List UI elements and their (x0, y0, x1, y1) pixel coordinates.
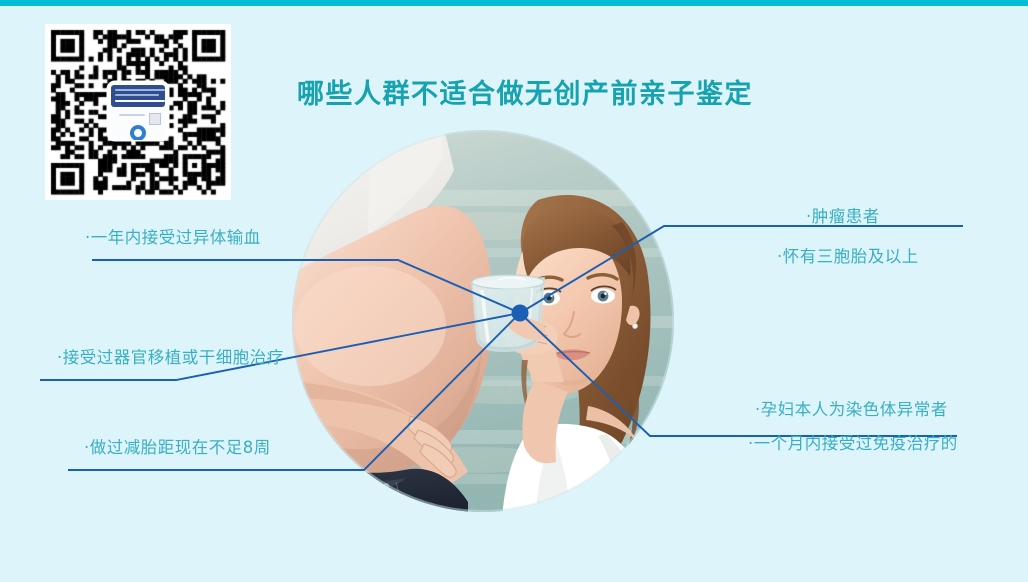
infographic-canvas: 哪些人群不适合做无创产前亲子鉴定 (0, 0, 1028, 582)
callout-label-right-2: ·怀有三胞胎及以上 (777, 243, 919, 267)
callout-label-left-3: ·做过减胎距现在不足8周 (84, 434, 271, 458)
logo-body (111, 109, 165, 137)
logo-mini-qr (149, 113, 161, 125)
pregnant-woman-and-girl-photo (292, 130, 674, 512)
callout-label-right-4: ·一个月内接受过免疫治疗的 (748, 430, 958, 454)
callout-label-right-1: ·肿瘤患者 (806, 203, 880, 227)
logo-header-band (111, 85, 165, 107)
qr-center-logo (108, 82, 168, 140)
qr-code[interactable] (45, 24, 231, 200)
callout-label-left-1: ·一年内接受过异体输血 (85, 224, 261, 248)
callout-label-left-2: ·接受过器官移植或干细胞治疗 (57, 344, 284, 368)
callout-label-right-3: ·孕妇本人为染色体异常者 (755, 396, 948, 420)
gear-icon (130, 125, 146, 140)
logo-text-line (119, 114, 145, 116)
top-accent-bar (0, 0, 1028, 6)
page-title: 哪些人群不适合做无创产前亲子鉴定 (265, 72, 785, 111)
